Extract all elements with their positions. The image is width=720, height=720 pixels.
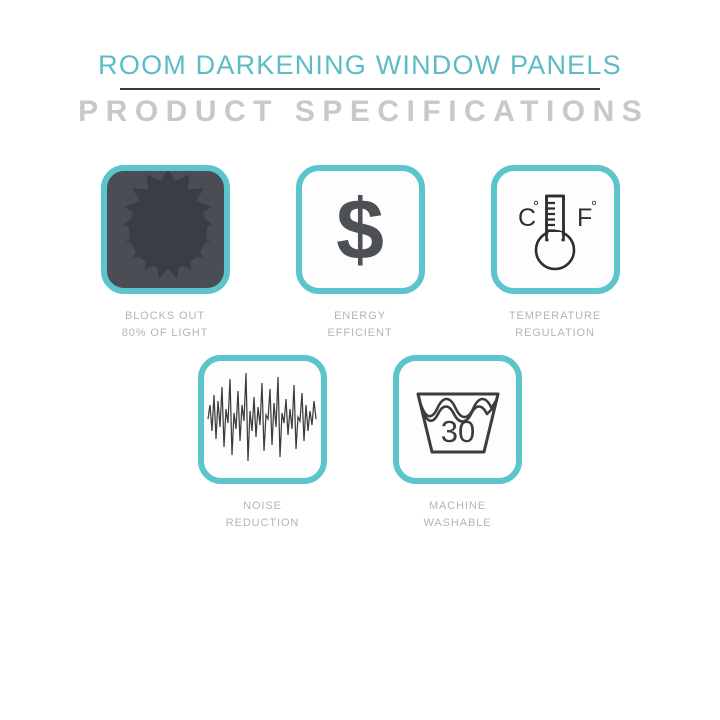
caption-energy-efficient: ENERGY EFFICIENT bbox=[328, 308, 393, 342]
caption-blocks-out-light: BLOCKS OUT 80% OF LIGHT bbox=[122, 308, 209, 342]
tile-blocks-out-light[interactable] bbox=[101, 165, 230, 294]
tile-temperature-regulation[interactable]: C ° F ° bbox=[491, 165, 620, 294]
caption-line-2: REGULATION bbox=[509, 325, 601, 342]
tile-machine-washable[interactable]: 30 bbox=[393, 355, 522, 484]
feature-machine-washable[interactable]: 30 MACHINE WASHABLE bbox=[360, 355, 555, 532]
feature-energy-efficient[interactable]: $ ENERGY EFFICIENT bbox=[263, 165, 458, 342]
wash-tub-icon: 30 bbox=[402, 364, 514, 476]
page-title: ROOM DARKENING WINDOW PANELS bbox=[0, 52, 720, 79]
feature-grid: BLOCKS OUT 80% OF LIGHT $ ENERGY EFFICIE… bbox=[0, 165, 720, 532]
tile-noise-reduction[interactable] bbox=[198, 355, 327, 484]
caption-temperature-regulation: TEMPERATURE REGULATION bbox=[509, 308, 601, 342]
page-subtitle: PRODUCT SPECIFICATIONS bbox=[0, 97, 720, 127]
feature-row-1: BLOCKS OUT 80% OF LIGHT $ ENERGY EFFICIE… bbox=[0, 165, 720, 342]
caption-line-2: WASHABLE bbox=[424, 515, 492, 532]
caption-line-1: TEMPERATURE bbox=[509, 308, 601, 325]
caption-line-1: MACHINE bbox=[424, 498, 492, 515]
infographic-page: ROOM DARKENING WINDOW PANELS PRODUCT SPE… bbox=[0, 0, 720, 720]
svg-text:°: ° bbox=[591, 198, 597, 215]
caption-line-2: EFFICIENT bbox=[328, 325, 393, 342]
sun-blocked-icon bbox=[101, 165, 230, 294]
fahrenheit-label: F bbox=[577, 204, 592, 232]
caption-line-2: 80% OF LIGHT bbox=[122, 325, 209, 342]
feature-temperature-regulation[interactable]: C ° F ° TEMPERATURE REGULATION bbox=[458, 165, 653, 342]
caption-noise-reduction: NOISE REDUCTION bbox=[226, 498, 300, 532]
wash-temperature-label: 30 bbox=[440, 414, 474, 449]
dollar-sign-icon: $ bbox=[336, 187, 384, 273]
title-divider bbox=[120, 88, 600, 90]
caption-machine-washable: MACHINE WASHABLE bbox=[424, 498, 492, 532]
thermometer-icon: C ° F ° bbox=[499, 174, 611, 286]
svg-text:°: ° bbox=[533, 198, 539, 215]
caption-line-1: ENERGY bbox=[328, 308, 393, 325]
caption-line-2: REDUCTION bbox=[226, 515, 300, 532]
feature-noise-reduction[interactable]: NOISE REDUCTION bbox=[165, 355, 360, 532]
header: ROOM DARKENING WINDOW PANELS PRODUCT SPE… bbox=[0, 0, 720, 127]
caption-line-1: BLOCKS OUT bbox=[122, 308, 209, 325]
sound-waveform-icon bbox=[204, 361, 321, 478]
feature-blocks-out-light[interactable]: BLOCKS OUT 80% OF LIGHT bbox=[68, 165, 263, 342]
feature-row-2: NOISE REDUCTION 30 bbox=[0, 355, 720, 532]
caption-line-1: NOISE bbox=[226, 498, 300, 515]
tile-energy-efficient[interactable]: $ bbox=[296, 165, 425, 294]
